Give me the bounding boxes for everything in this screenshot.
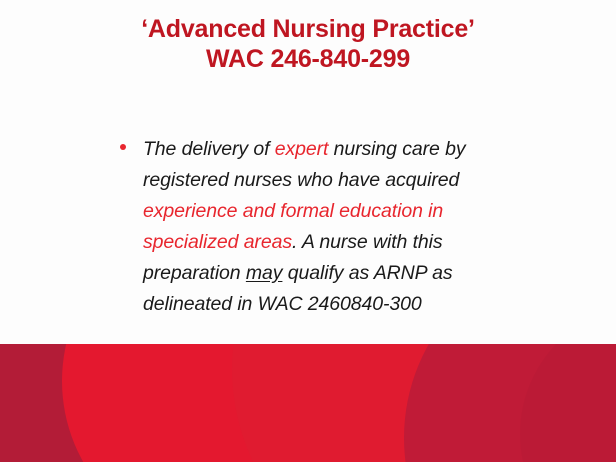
bullet-text: The delivery of expert nursing care by r… xyxy=(143,138,465,315)
footer-decorative-band xyxy=(0,344,616,462)
body-segment-underline-may: may xyxy=(246,262,283,284)
bullet-list-item: The delivery of expert nursing care by r… xyxy=(118,134,538,320)
title-line-1: ‘Advanced Nursing Practice’ xyxy=(0,14,616,44)
slide-title: ‘Advanced Nursing Practice’ WAC 246-840-… xyxy=(0,14,616,74)
title-line-2: WAC 246-840-299 xyxy=(0,44,616,74)
bullet-point-icon xyxy=(120,144,126,150)
body-segment-highlight-expert: expert xyxy=(275,138,329,160)
slide-body: The delivery of expert nursing care by r… xyxy=(118,134,538,320)
body-segment-plain-1: The delivery of xyxy=(143,138,275,160)
slide-canvas: ‘Advanced Nursing Practice’ WAC 246-840-… xyxy=(0,0,616,462)
